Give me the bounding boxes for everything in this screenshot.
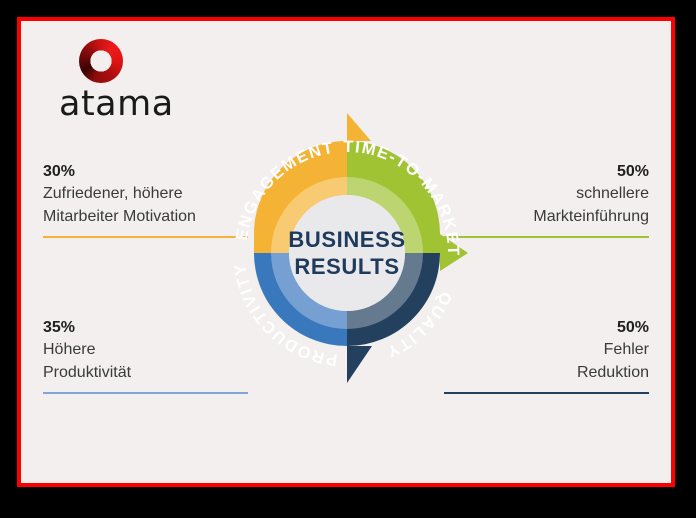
slide-canvas: atama 30% Zufriedener, höhere Mitarbeite… [21,21,671,483]
center-label-line2: RESULTS [294,253,399,280]
center-label-line1: BUSINESS [288,226,405,253]
slide-frame: atama 30% Zufriedener, höhere Mitarbeite… [17,17,675,487]
brand-logo: atama [59,39,189,131]
business-results-cycle-diagram: ENGAGEMENT TIME-TO-MARKET QUALITY PRODUC… [206,93,488,413]
logo-wordmark: atama [59,84,174,124]
center-label: BUSINESS RESULTS [277,211,417,295]
screen: atama 30% Zufriedener, höhere Mitarbeite… [0,0,696,518]
atama-ring-icon [79,39,123,83]
